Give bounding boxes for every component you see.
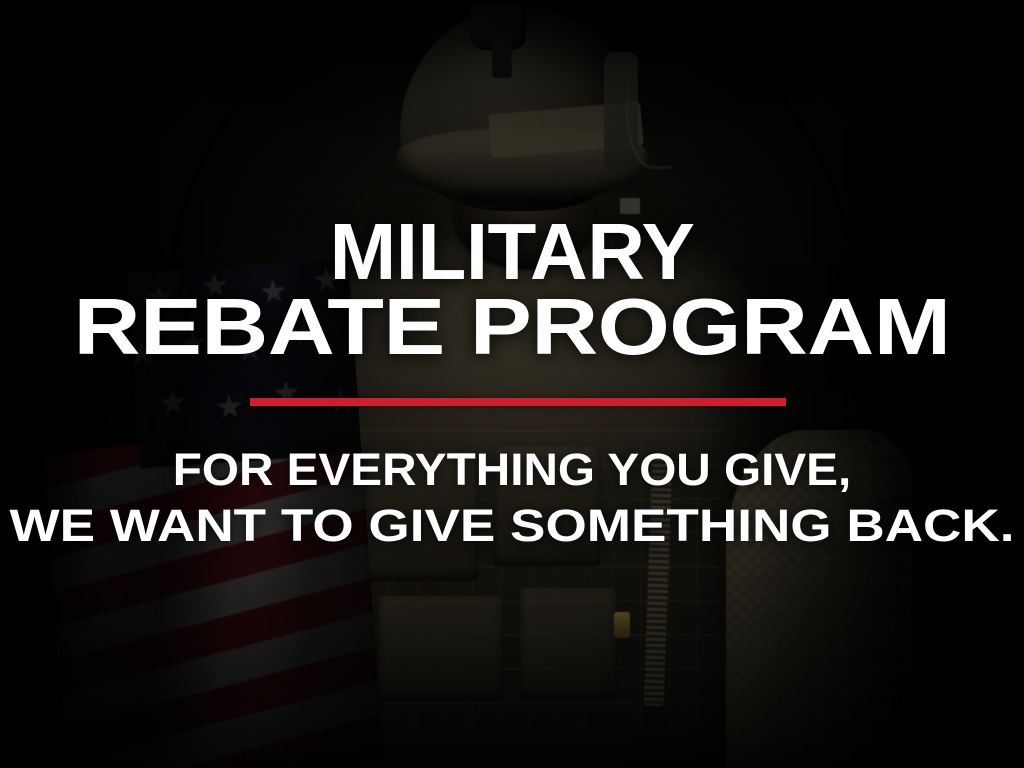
headline-block: MILITARY REBATE PROGRAM xyxy=(0,214,1024,366)
vest-pouch xyxy=(520,588,616,698)
subheadline: FOR EVERYTHING YOU GIVE, WE WANT TO GIVE… xyxy=(0,446,1024,549)
subheadline-line-2: WE WANT TO GIVE SOMETHING BACK. xyxy=(0,502,1024,550)
night-vision-arm xyxy=(492,34,512,78)
headline-line-2: REBATE PROGRAM xyxy=(0,289,1024,366)
soldier-figure xyxy=(0,0,1024,768)
headline-line-1: MILITARY xyxy=(0,214,1024,291)
vest-pouch xyxy=(378,596,502,700)
military-rebate-banner: MILITARY REBATE PROGRAM FOR EVERYTHING Y… xyxy=(0,0,1024,768)
red-divider-rule xyxy=(250,398,786,406)
subheadline-line-1: FOR EVERYTHING YOU GIVE, xyxy=(0,446,1024,494)
background-photo xyxy=(0,0,1024,768)
vest-amber-tab xyxy=(614,612,630,638)
page-title: MILITARY REBATE PROGRAM xyxy=(0,214,1024,366)
